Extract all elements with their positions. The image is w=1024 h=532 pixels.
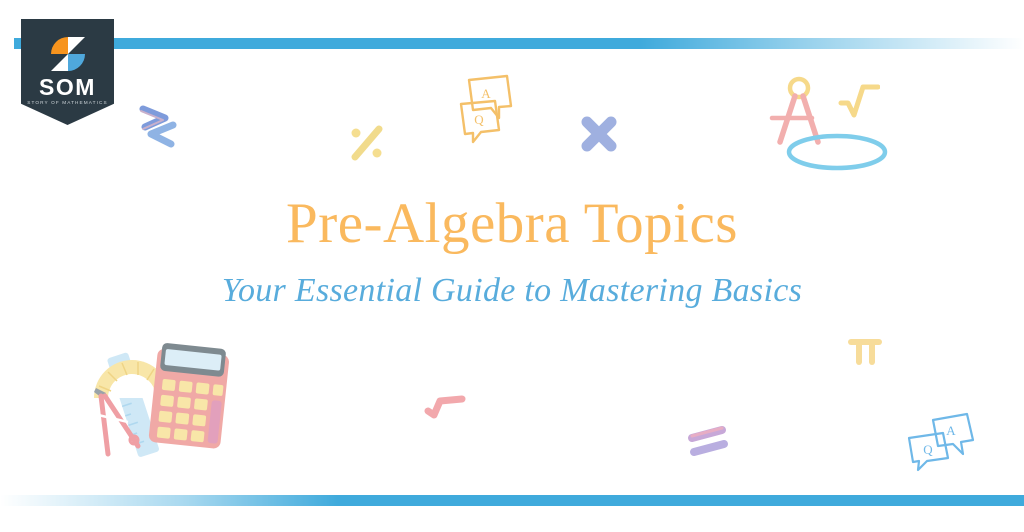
svg-text:Q: Q [923,442,933,457]
pi-symbol-icon [846,332,884,370]
page-title: Pre-Algebra Topics [0,192,1024,256]
svg-text:Q: Q [474,112,484,127]
svg-text:A: A [481,86,491,101]
qa-speech-bubbles-orange-icon: A Q [455,72,525,144]
logo-wordmark: SOM [21,76,114,99]
multiplication-x-icon [578,113,620,155]
square-root-yellow-icon [838,82,880,120]
ellipse-icon [784,131,890,173]
banner-root: SOM STORY OF MATHEMATICS A Q [0,0,1024,532]
equals-sign-icon [684,423,732,459]
som-logo-mark-icon [49,35,87,73]
square-root-pink-icon [424,393,466,423]
bottom-accent-rule [0,495,1024,506]
greater-less-arrows-icon [137,103,193,151]
qa-speech-bubbles-blue-icon: A Q [905,412,977,474]
logo-tagline: STORY OF MATHEMATICS [21,101,114,106]
math-tools-calculator-icon [72,336,250,476]
page-subtitle: Your Essential Guide to Mastering Basics [0,272,1024,309]
compass-icon [768,74,840,156]
svg-text:A: A [946,423,956,438]
top-accent-rule [14,38,1024,49]
hero-text-block: Pre-Algebra Topics Your Essential Guide … [0,192,1024,309]
percent-sign-icon [346,122,388,164]
som-logo[interactable]: SOM STORY OF MATHEMATICS [21,19,114,125]
